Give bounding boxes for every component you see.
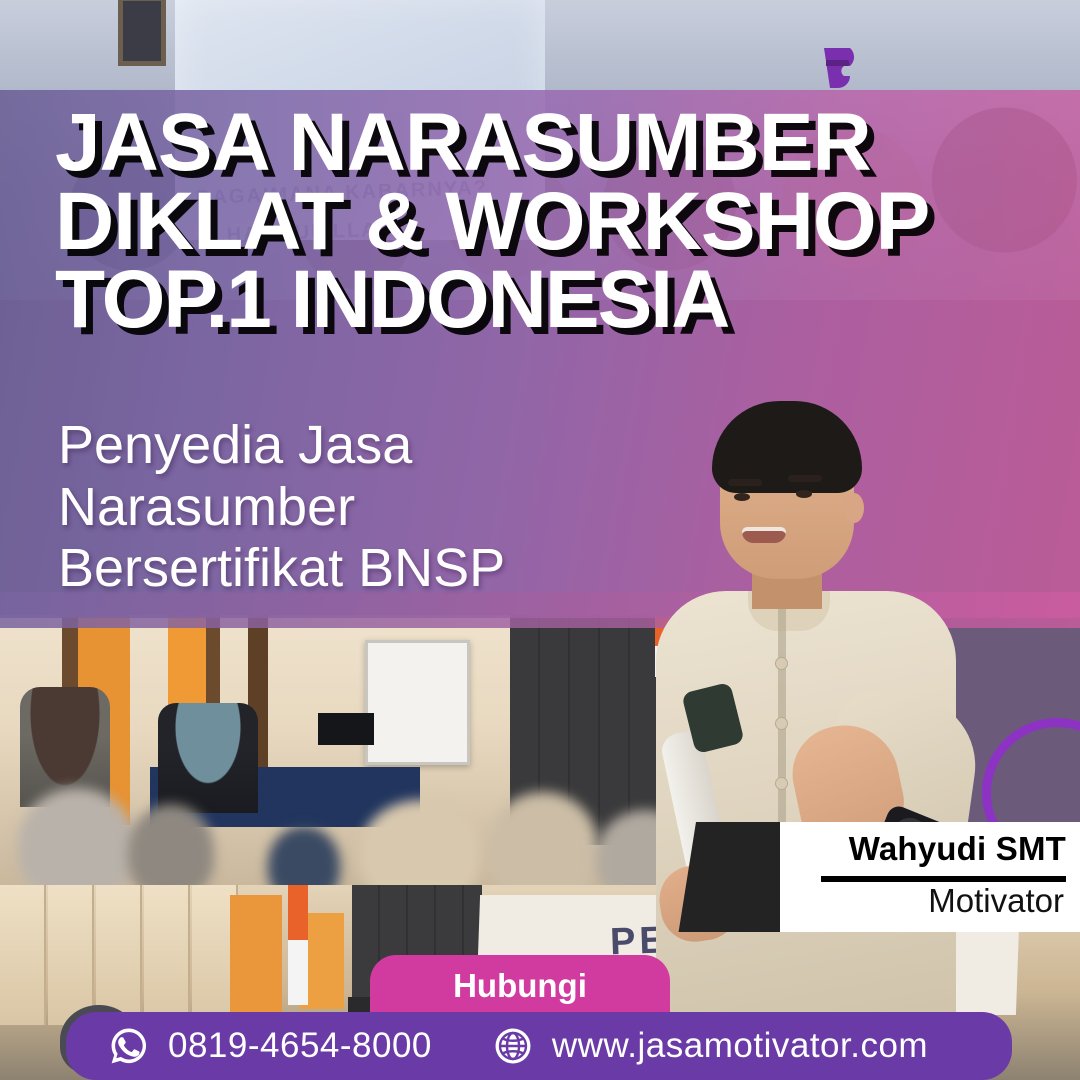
headline-line-3: TOP.1 INDONESIA [55, 261, 1015, 340]
speaker-name: Wahyudi SMT [849, 830, 1066, 868]
whatsapp-number: 0819-4654-8000 [168, 1026, 432, 1066]
page-title: JASA NARASUMBER DIKLAT & WORKSHOP TOP.1 … [55, 104, 1015, 340]
subtitle-line-3: Bersertifikat BNSP [58, 538, 698, 600]
speaker-name-card: Wahyudi SMT Motivator [696, 822, 1080, 932]
whatsapp-contact[interactable]: 0819-4654-8000 [108, 1025, 432, 1067]
contact-cta-label: Hubungi [453, 967, 587, 1005]
contact-bar: 0819-4654-8000 www.jasamotivator.com [66, 1012, 1012, 1080]
wall-frame-decor [118, 0, 166, 66]
flag-decor [288, 885, 308, 1005]
bird-swoosh-logo-icon [818, 44, 864, 92]
website-url: www.jasamotivator.com [552, 1026, 928, 1066]
globe-icon [492, 1025, 534, 1067]
website-contact[interactable]: www.jasamotivator.com [492, 1025, 928, 1067]
flipchart-decor [365, 640, 470, 765]
headline-line-2: DIKLAT & WORKSHOP [55, 183, 1015, 262]
contact-cta-button[interactable]: Hubungi [370, 955, 670, 1017]
headline-line-1: JASA NARASUMBER [55, 104, 1015, 183]
promotional-poster: BAGAIMANA KABARNYA? ALHAMDULILLAH PELATI… [0, 0, 1080, 1080]
foreground-audience-decor [0, 770, 700, 895]
page-subtitle: Penyedia Jasa Narasumber Bersertifikat B… [58, 415, 698, 600]
speaker-role: Motivator [928, 882, 1064, 920]
laptop-decor [318, 713, 374, 745]
subtitle-line-1: Penyedia Jasa [58, 415, 698, 477]
subtitle-line-2: Narasumber [58, 477, 698, 539]
whatsapp-icon [108, 1025, 150, 1067]
